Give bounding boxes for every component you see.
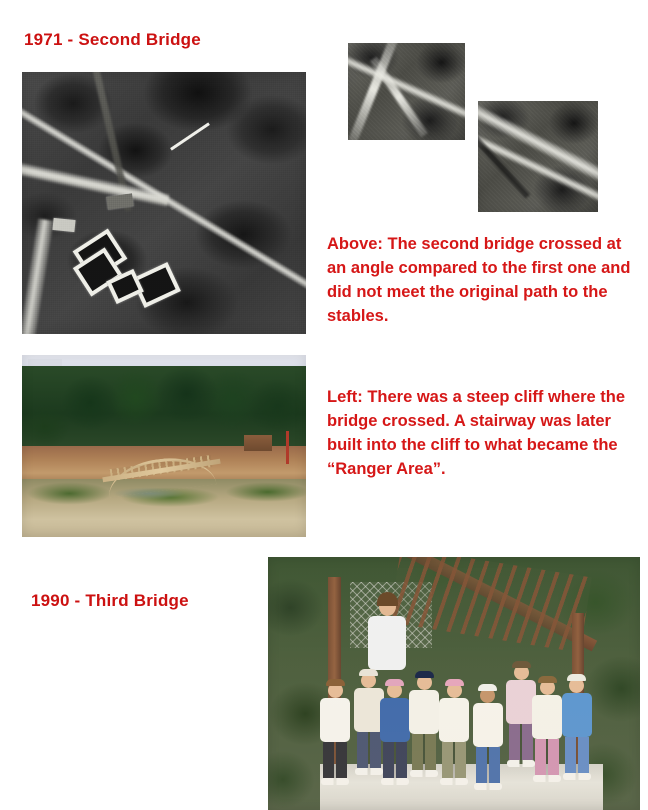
caption-above: Above: The second bridge crossed at an a… xyxy=(327,232,639,328)
child-2-legs xyxy=(357,732,381,768)
child-9-legs xyxy=(565,737,589,773)
child-5-cap xyxy=(445,679,464,686)
child-6-shoes xyxy=(474,783,502,790)
aerial-film-grain xyxy=(22,72,306,334)
child-3-cap xyxy=(385,679,404,686)
photo-inset-angle xyxy=(478,101,598,212)
child-9 xyxy=(562,674,592,780)
child-9-shoes xyxy=(563,773,591,780)
child-9-cap xyxy=(567,674,586,681)
child-5-shoes xyxy=(440,778,468,785)
bridge-photo-content xyxy=(22,355,306,537)
bridge-shed xyxy=(244,435,272,451)
caption-left: Left: There was a steep cliff where the … xyxy=(327,385,639,481)
child-4-cap xyxy=(415,671,434,678)
child-7-legs xyxy=(509,724,533,760)
children-counselor xyxy=(368,592,406,670)
child-7-hair xyxy=(512,661,531,668)
inset-crossing-grain xyxy=(348,43,465,140)
child-8-hair xyxy=(538,676,557,683)
child-2-cap xyxy=(359,669,378,676)
page-canvas: 1971 - Second Bridge xyxy=(0,0,648,810)
child-4-legs xyxy=(412,734,436,770)
child-6-shirt xyxy=(473,703,503,747)
child-1 xyxy=(320,679,350,785)
child-4 xyxy=(409,671,439,777)
counselor-shirt xyxy=(368,616,406,670)
inset-angle-content xyxy=(478,101,598,212)
child-9-shirt xyxy=(562,693,592,737)
inset-angle-grain xyxy=(478,101,598,212)
child-2-shoes xyxy=(355,768,383,775)
child-3 xyxy=(380,679,410,785)
child-3-shoes xyxy=(381,778,409,785)
child-4-shoes xyxy=(410,770,438,777)
child-1-hair xyxy=(326,679,345,686)
photo-bridge-color xyxy=(22,355,306,537)
inset-crossing-content xyxy=(348,43,465,140)
child-3-legs xyxy=(383,742,407,778)
photo-children-1990 xyxy=(268,557,640,810)
child-5 xyxy=(439,679,469,785)
child-6-legs xyxy=(476,747,500,783)
bridge-red-pole xyxy=(286,431,289,464)
photo-aerial-1971 xyxy=(22,72,306,334)
page-title-1971: 1971 - Second Bridge xyxy=(24,30,201,50)
child-5-shirt xyxy=(439,698,469,742)
child-1-legs xyxy=(323,742,347,778)
child-8-shoes xyxy=(533,775,561,782)
child-7-shoes xyxy=(507,760,535,767)
child-6 xyxy=(473,684,503,790)
counselor-hair xyxy=(377,592,398,606)
child-3-shirt xyxy=(380,698,410,742)
child-5-legs xyxy=(442,742,466,778)
child-1-shoes xyxy=(321,778,349,785)
child-1-shirt xyxy=(320,698,350,742)
aerial-photo-content xyxy=(22,72,306,334)
children-photo-content xyxy=(268,557,640,810)
photo-inset-crossing xyxy=(348,43,465,140)
child-4-shirt xyxy=(409,690,439,734)
child-6-cap xyxy=(478,684,497,691)
child-8 xyxy=(532,676,562,782)
page-title-1990: 1990 - Third Bridge xyxy=(31,591,189,611)
child-8-legs xyxy=(535,739,559,775)
child-8-shirt xyxy=(532,695,562,739)
